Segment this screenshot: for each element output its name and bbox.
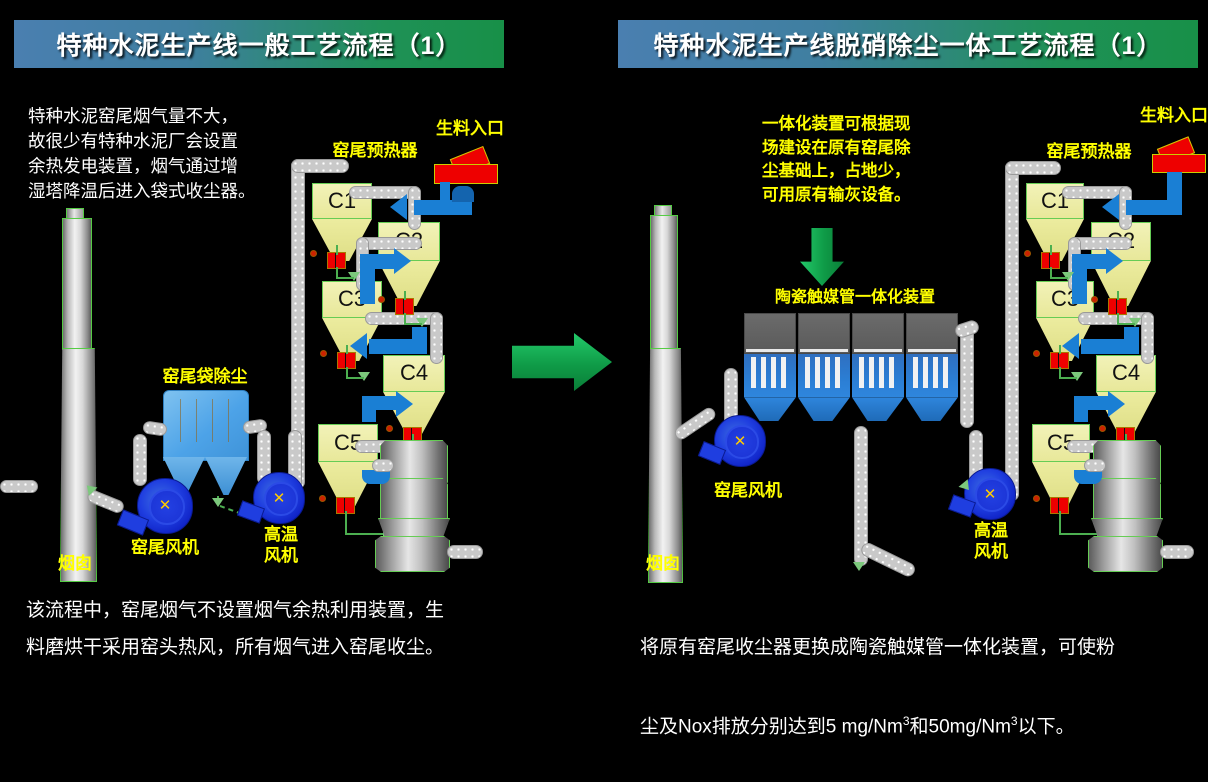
right-kiln-fan-label: 窑尾风机 <box>693 480 803 501</box>
right-valve-c5-knob <box>1033 495 1040 502</box>
right-valve-c2-knob <box>1091 296 1098 303</box>
left-note-text: 特种水泥窑尾烟气量不大， 故很少有特种水泥厂会设置 余热发电装置，烟气通过增 湿… <box>28 104 318 204</box>
right-cat-2-mid <box>798 354 850 397</box>
left-stack-upper <box>62 218 92 350</box>
right-title-banner: 特种水泥生产线脱硝除尘一体工艺流程（1） <box>618 20 1198 68</box>
right-kiln-outlet-duct <box>1160 545 1194 559</box>
left-gas-c4-arrow <box>396 391 413 417</box>
right-ht-fan-hub-icon: ✕ <box>984 487 996 499</box>
left-raw-inlet-label: 生料入口 <box>420 118 520 139</box>
right-cat-4-cone <box>906 397 958 421</box>
right-raw-inlet-label: 生料入口 <box>1124 105 1208 126</box>
right-meal-c5-run <box>1059 533 1099 535</box>
right-stack-lower <box>648 348 683 583</box>
left-meal-c5-run <box>345 533 385 535</box>
right-gas-c4-arrow <box>1108 391 1125 417</box>
left-meal-c1-stem <box>336 245 338 255</box>
left-cyclone-c4: C4 <box>383 355 445 435</box>
right-bottom-text: 将原有窑尾收尘器更换成陶瓷触媒管一体化装置，可使粉 尘及Nox排放分别达到5 m… <box>640 592 1208 782</box>
right-valve-c4-knob <box>1099 425 1106 432</box>
right-bottom-line-2a: 尘及Nox排放分别达到5 mg/Nm <box>640 716 903 737</box>
right-cat-4-mid <box>906 354 958 397</box>
right-bottom-sup-1: 3 <box>903 714 910 728</box>
left-valve-c2-knob <box>378 296 385 303</box>
left-valve-c5-knob <box>319 495 326 502</box>
right-cat-1-mid <box>744 354 796 397</box>
left-stack-label: 烟囱 <box>40 553 110 574</box>
right-duct-cat-out <box>960 328 974 428</box>
left-gas-c4-riser <box>362 396 376 422</box>
right-gas-c5-link <box>1074 470 1102 484</box>
left-gas-c2-elbow <box>360 254 396 269</box>
right-meal-c5-drop <box>1059 511 1061 534</box>
right-catalytic-module-3 <box>852 313 904 421</box>
right-cat-3-mid <box>852 354 904 397</box>
right-cyclone-c4: C4 <box>1096 355 1156 435</box>
left-high-temp-fan: ✕ <box>253 472 305 524</box>
left-gas-c3-riser <box>412 327 427 354</box>
right-bottom-line-2b: 和50mg/Nm <box>910 716 1011 737</box>
right-c1-inlet-duct <box>1005 161 1061 175</box>
right-cat-2-strip <box>800 349 848 352</box>
right-gas-c4-riser <box>1074 396 1088 422</box>
left-duct-bag-in-1 <box>142 420 168 436</box>
right-catalytic-module-2 <box>798 313 850 421</box>
right-high-temp-fan: ✕ <box>964 468 1016 520</box>
left-bag-hopper-b <box>205 457 247 495</box>
left-meal-c3-link <box>346 377 364 379</box>
right-gas-c1-down <box>1167 172 1182 215</box>
slide-canvas: 特种水泥生产线一般工艺流程（1） 特种水泥窑尾烟气量不大， 故很少有特种水泥厂会… <box>0 0 1208 663</box>
right-high-temp-fan-label: 高温 风机 <box>962 520 1020 562</box>
left-duct-c5-kiln <box>372 459 394 472</box>
right-process-panel: 特种水泥生产线脱硝除尘一体工艺流程（1） 一体化装置可根据现 场建设在原有窑尾除… <box>604 0 1208 663</box>
left-gas-c1-arrow <box>390 194 407 220</box>
right-valve-c3-knob <box>1033 350 1040 357</box>
right-cat-4-strip <box>908 349 956 352</box>
right-title-text: 特种水泥生产线脱硝除尘一体工艺流程（1） <box>654 26 1163 62</box>
right-gas-c2-elbow <box>1072 254 1108 269</box>
left-meal-c1-link <box>336 277 354 279</box>
right-cyclone-c5: C5 <box>1032 424 1090 506</box>
left-process-panel: 特种水泥生产线一般工艺流程（1） 特种水泥窑尾烟气量不大， 故很少有特种水泥厂会… <box>0 0 604 663</box>
right-duct-down-arrow <box>853 562 865 571</box>
left-valve-c1-knob <box>310 250 317 257</box>
right-cat-3-strip <box>854 349 902 352</box>
left-meal-c3-stem <box>346 345 348 354</box>
right-bottom-line-1: 将原有窑尾收尘器更换成陶瓷触媒管一体化装置，可使粉 <box>640 629 1208 666</box>
right-meal-c1-stem <box>1050 245 1052 255</box>
left-meal-c2-stem <box>404 291 406 300</box>
install-down-arrow-icon <box>800 228 844 286</box>
left-valve-c4-knob <box>386 425 393 432</box>
left-cyclone-c4-label: C4 <box>400 360 428 386</box>
left-bag-filter-body <box>163 390 249 461</box>
right-catalytic-module-4 <box>906 313 958 421</box>
right-stack-label: 烟囱 <box>628 553 698 574</box>
right-cat-3-cone <box>852 397 904 421</box>
left-duct-edge <box>0 480 38 493</box>
right-main-riser-duct <box>1005 161 1019 501</box>
left-meal-c5-drop <box>345 511 347 534</box>
left-kiln-fan: ✕ <box>137 478 193 534</box>
right-gas-c1-arrow <box>1102 194 1119 220</box>
right-catalytic-module-1 <box>744 313 796 421</box>
left-kiln-drum-3 <box>375 536 450 572</box>
right-duct-c5-kiln <box>1084 459 1106 472</box>
left-cyclone-c5: C5 <box>318 424 378 506</box>
left-bag-filter-label: 窑尾袋除尘 <box>142 366 268 387</box>
left-bottom-text: 该流程中，窑尾烟气不设置烟气余热利用装置，生 料磨烘干采用窑头热风，所有烟气进入… <box>26 592 586 666</box>
right-valve-c1-knob <box>1024 250 1031 257</box>
right-meal-c1-link <box>1050 277 1068 279</box>
left-gas-c5-link <box>362 470 390 484</box>
right-kiln-fan: ✕ <box>714 415 766 467</box>
left-duct-c4-riser <box>430 312 443 364</box>
right-duct-c4-riser <box>1141 312 1154 364</box>
right-meal-c3-stem <box>1059 345 1061 354</box>
left-title-text: 特种水泥生产线一般工艺流程（1） <box>57 26 462 62</box>
right-gas-c3-riser <box>1124 327 1139 354</box>
right-bottom-sup-2: 3 <box>1011 714 1018 728</box>
right-note-text: 一体化装置可根据现 场建设在原有窑尾除 尘基础上，占地少， 可用原有输灰设备。 <box>762 113 967 207</box>
left-c1-inlet-duct <box>291 159 349 173</box>
right-meal-c2-stem <box>1117 291 1119 300</box>
left-raw-inlet-feeder <box>434 164 498 184</box>
left-ht-fan-hub-icon: ✕ <box>273 491 285 503</box>
left-meal-c2-link <box>404 323 422 325</box>
right-kiln-drum-3 <box>1088 536 1163 572</box>
right-kiln-fan-hub-icon: ✕ <box>734 434 746 446</box>
left-preheater-label: 窑尾预热器 <box>310 140 440 161</box>
left-title-banner: 特种水泥生产线一般工艺流程（1） <box>14 20 504 68</box>
right-meal-c2-link <box>1117 323 1135 325</box>
left-kiln-fan-label: 窑尾风机 <box>110 537 220 558</box>
right-gas-c2-arrow <box>1106 248 1123 274</box>
right-cyclone-c4-label: C4 <box>1112 360 1140 386</box>
right-catalytic-unit-label: 陶瓷触媒管一体化装置 <box>740 287 970 308</box>
left-valve-c3-knob <box>320 350 327 357</box>
right-meal-c3-link <box>1059 377 1077 379</box>
left-kiln-fan-hub-icon: ✕ <box>158 498 171 511</box>
right-preheater-label: 窑尾预热器 <box>1024 141 1154 162</box>
left-gas-c1-bend <box>452 186 474 202</box>
right-cat-1-strip <box>746 349 794 352</box>
left-kiln-outlet-duct <box>447 545 483 559</box>
left-gas-c2-arrow <box>394 248 411 274</box>
left-stack-lower <box>60 348 97 582</box>
right-bottom-line-2: 尘及Nox排放分别达到5 mg/Nm3和50mg/Nm3以下。 <box>640 703 1208 745</box>
right-cat-2-cone <box>798 397 850 421</box>
right-bottom-line-2c: 以下。 <box>1018 716 1075 737</box>
right-raw-inlet-feeder <box>1152 154 1206 173</box>
right-stack-upper <box>650 215 678 350</box>
left-high-temp-fan-label: 高温 风机 <box>252 524 310 566</box>
